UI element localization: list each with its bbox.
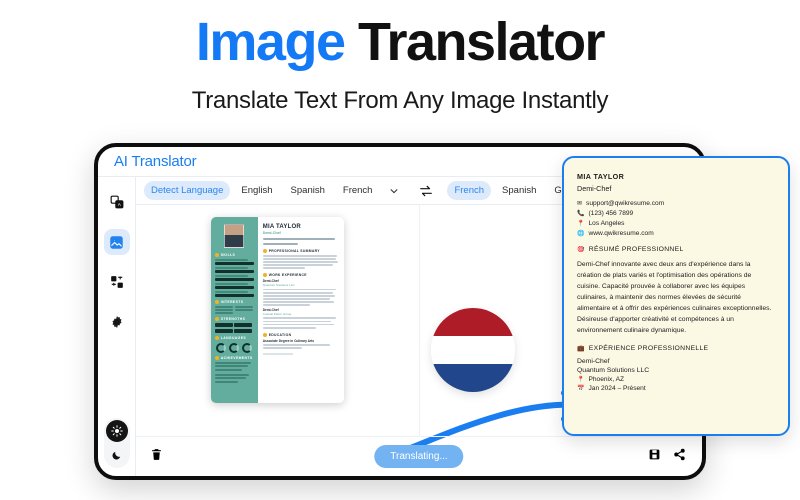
trash-icon[interactable] (150, 448, 163, 466)
translated-experience-heading: 💼EXPÉRIENCE PROFESSIONNELLE (577, 345, 775, 352)
resume-company-1: Quantum Solutions LLC (263, 283, 339, 287)
dark-mode-button[interactable] (106, 444, 128, 466)
source-image-resume[interactable]: SKILLS INTERESTS STRENGTHS LANGUAGES (211, 217, 344, 403)
translated-summary-heading: 🎯RÉSUMÉ PROFESSIONNEL (577, 246, 775, 253)
bullet-icon (215, 253, 219, 257)
resume-photo (224, 224, 244, 248)
target-lang-french[interactable]: French (447, 181, 491, 200)
bottom-toolbar: Translating... (136, 436, 702, 476)
resume-section-strengths: STRENGTHS (215, 317, 254, 321)
sidebar-item-settings[interactable] (104, 309, 130, 335)
page-title: Image Translator (0, 14, 800, 71)
swap-languages-icon[interactable] (419, 184, 433, 198)
resume-company-2: Coastal Flavor Group (263, 312, 339, 316)
translated-name: MIA TAYLOR (577, 172, 775, 181)
source-lang-spanish[interactable]: Spanish (284, 181, 332, 200)
translated-job-location: 📍Phoenix, AZ (577, 376, 775, 383)
resume-section-skills: SKILLS (215, 253, 254, 257)
sidebar-item-text-translate[interactable]: A (104, 189, 130, 215)
target-icon: 🎯 (577, 246, 585, 253)
bullet-icon (215, 356, 219, 360)
resume-role: Demi-Chef (263, 231, 339, 235)
resume-section-summary: PROFESSIONAL SUMMARY (263, 249, 339, 253)
hero-section: Image Translator Translate Text From Any… (0, 0, 800, 115)
resume-main: MIA TAYLOR Demi-Chef PROFESSIONAL SUMMAR… (258, 217, 344, 403)
source-lang-english[interactable]: English (234, 181, 279, 200)
resume-section-work: WORK EXPERIENCE (263, 273, 339, 277)
bullet-icon (263, 333, 267, 337)
netherlands-flag-icon (431, 308, 515, 392)
contact-email: ✉support@qwikresume.com (577, 200, 775, 207)
resume-sidebar: SKILLS INTERESTS STRENGTHS LANGUAGES (211, 217, 258, 403)
resume-degree: Associate Degree in Culinary Arts (263, 339, 339, 343)
resume-section-interests: INTERESTS (215, 300, 254, 304)
location-pin-icon: 📍 (577, 220, 584, 227)
translated-contacts: ✉support@qwikresume.com 📞(123) 456 7899 … (577, 200, 775, 237)
sidebar-item-document-translate[interactable] (104, 269, 130, 295)
bullet-icon (215, 336, 219, 340)
bottom-right-actions (648, 448, 686, 466)
page-title-rest: Translator (344, 12, 604, 72)
resume-section-achievements: ACHIEVEMENTS (215, 356, 254, 360)
translated-role: Demi-Chef (577, 184, 775, 193)
bullet-icon (263, 273, 267, 277)
calendar-icon: 📅 (577, 385, 584, 392)
source-pane[interactable]: SKILLS INTERESTS STRENGTHS LANGUAGES (136, 205, 420, 436)
sidebar-rail: A (98, 177, 136, 476)
bullet-icon (263, 249, 267, 253)
briefcase-icon: 💼 (577, 345, 585, 352)
app-title: AI Translator (114, 153, 196, 170)
email-icon: ✉ (577, 200, 582, 207)
source-lang-detect[interactable]: Detect Language (144, 181, 230, 200)
chevron-down-icon[interactable] (383, 186, 405, 196)
bullet-icon (215, 300, 219, 304)
light-mode-button[interactable] (106, 420, 128, 442)
contact-website: 🌐www.qwikresume.com (577, 230, 775, 237)
share-icon[interactable] (673, 448, 686, 466)
translated-summary-body: Demi-Chef innovante avec deux ans d'expé… (577, 259, 775, 336)
source-lang-french[interactable]: French (336, 181, 380, 200)
globe-icon: 🌐 (577, 230, 584, 237)
sidebar-item-image-translate[interactable] (104, 229, 130, 255)
phone-icon: 📞 (577, 210, 584, 217)
translated-job-dates: 📅Jan 2024 – Présent (577, 385, 775, 392)
theme-toggle[interactable] (104, 418, 130, 468)
location-pin-icon: 📍 (577, 376, 584, 383)
source-language-group: Detect Language English Spanish French (144, 181, 405, 200)
resume-section-languages: LANGUAGES (215, 336, 254, 340)
bullet-icon (215, 317, 219, 321)
translate-button[interactable]: Translating... (374, 445, 463, 468)
target-lang-spanish[interactable]: Spanish (495, 181, 543, 200)
translated-company: Quantum Solutions LLC (577, 367, 775, 374)
translated-result-card[interactable]: MIA TAYLOR Demi-Chef ✉support@qwikresume… (562, 156, 790, 436)
translated-job-title: Demi-Chef (577, 358, 775, 365)
page-subtitle: Translate Text From Any Image Instantly (0, 87, 800, 115)
save-icon[interactable] (648, 448, 661, 466)
contact-location: 📍Los Angeles (577, 220, 775, 227)
contact-phone: 📞(123) 456 7899 (577, 210, 775, 217)
resume-section-education: EDUCATION (263, 333, 339, 337)
page-title-accent: Image (196, 12, 345, 72)
resume-name: MIA TAYLOR (263, 224, 339, 230)
